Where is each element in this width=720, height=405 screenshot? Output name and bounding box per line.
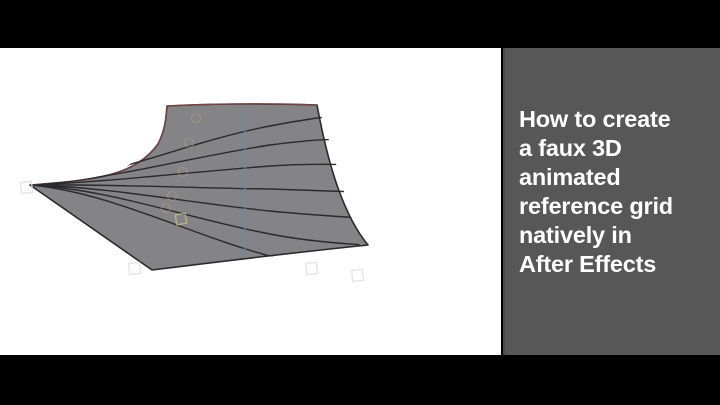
title-line-2: a faux 3D (519, 134, 715, 163)
composition-canvas-panel[interactable] (0, 48, 501, 355)
title-line-4: reference grid (519, 192, 715, 221)
title-line-1: How to create (519, 105, 715, 134)
vertex-handle-bottom-right[interactable] (352, 269, 364, 281)
vertex-handle-left[interactable] (20, 181, 32, 193)
vertex-handle-bottom-mid[interactable] (306, 262, 318, 274)
title-line-6: After Effects (519, 250, 715, 279)
letterbox-bar-bottom (0, 355, 720, 405)
title-panel: How to create a faux 3D animated referen… (503, 48, 720, 355)
title-line-3: animated (519, 163, 715, 192)
video-thumbnail-screen: How to create a faux 3D animated referen… (0, 0, 720, 405)
title-line-5: natively in (519, 221, 715, 250)
letterbox-bar-top (0, 0, 720, 48)
page-title: How to create a faux 3D animated referen… (519, 105, 715, 279)
perspective-grid-illustration (0, 48, 501, 355)
vertex-handle-bottom-left[interactable] (129, 262, 141, 274)
panel-divider (503, 48, 505, 355)
